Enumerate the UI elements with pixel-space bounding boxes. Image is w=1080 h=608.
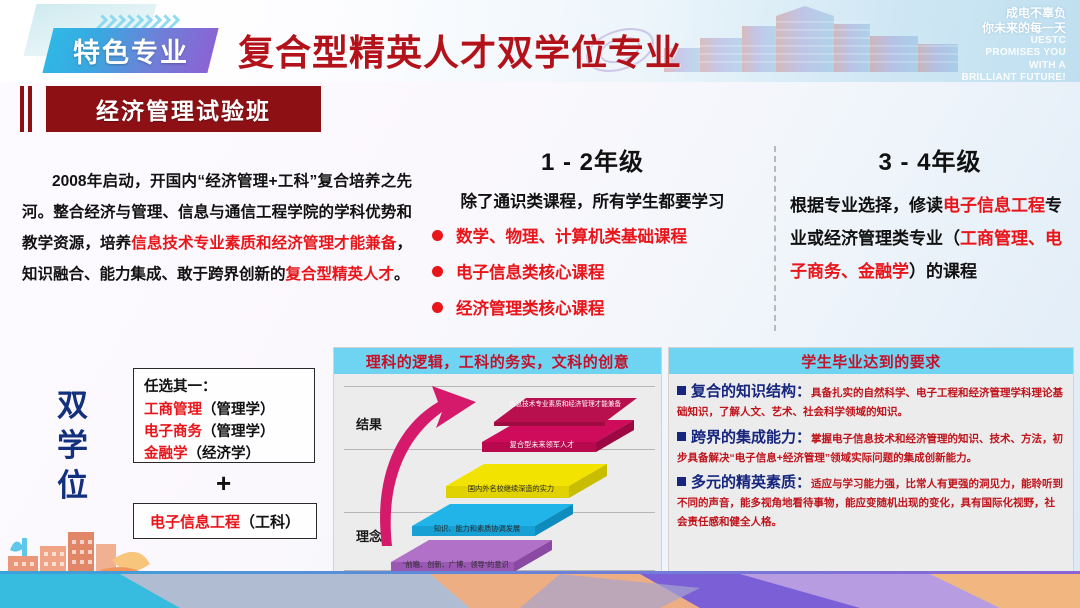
plus-symbol: +	[216, 468, 231, 499]
grade-column-3-4: 3 - 4年级 根据专业选择，修读电子信息工程专业或经济管理类专业（工商管理、电…	[790, 142, 1070, 296]
list-item: 电子信息类核心课程	[420, 259, 765, 283]
list-item: 复合的知识结构：具备扎实的自然科学、电子工程和经济管理学科理论基础知识，了解人文…	[677, 382, 1065, 421]
option-degree: （管理学）	[202, 402, 275, 418]
dual-degree-box-heading: 任选其一：	[144, 375, 304, 396]
grade-column-1-2: 1 - 2年级 除了通识类课程，所有学生都要学习 数学、物理、计算机类基础课程 …	[420, 142, 765, 331]
bullet-label: 经济管理类核心课程	[456, 295, 605, 319]
requirement-heading-text: 复合的知识结构：	[691, 383, 811, 400]
option-major: 电子商务	[144, 424, 202, 440]
step-label-5: 信息技术专业素质和经济管理才能兼备	[502, 400, 628, 409]
top-banner: 特色专业 复合型精英人才双学位专业 成电不辜负 你未来的每一天 UESTC PR…	[0, 0, 1080, 82]
intro-text-red-a: 信息技术专业素质和经济管理才能兼备	[131, 235, 396, 252]
list-item: 电子商务（管理学）	[144, 421, 304, 443]
column-divider	[774, 146, 776, 331]
requirement-heading: 多元的精英素质：	[677, 474, 811, 491]
grade-3-4-lead: 根据专业选择，修读电子信息工程专业或经济管理类专业（工商管理、电子商务、金融学）…	[790, 189, 1070, 288]
section-title-bar: 经济管理试验班	[46, 86, 321, 132]
feature-badge-label: 特色专业	[73, 31, 189, 70]
grade-3-4-text-3: ）的课程	[909, 262, 977, 281]
square-bullet-icon	[677, 432, 686, 441]
bullet-dot-icon	[432, 230, 443, 241]
grade-3-4-red-1: 电子信息工程	[943, 196, 1045, 215]
page-title: 复合型精英人才双学位专业	[238, 24, 682, 76]
tagline-en-line1: UESTC	[906, 35, 1066, 47]
list-item: 工商管理（管理学）	[144, 399, 304, 421]
requirements-panel-header: 学生毕业达到的要求	[669, 348, 1073, 374]
tagline-en-line3: WITH A	[906, 60, 1066, 72]
bottom-decor-strip	[0, 574, 1080, 608]
section-accent-bars	[20, 86, 32, 132]
step-label-1: “前瞻、创新、广博、领导”的意识	[396, 560, 516, 570]
feature-badge: 特色专业	[42, 28, 218, 73]
tagline-cn-line2: 你未来的每一天	[906, 21, 1066, 36]
slide-root: 特色专业 复合型精英人才双学位专业 成电不辜负 你未来的每一天 UESTC PR…	[0, 0, 1080, 608]
requirements-list: 复合的知识结构：具备扎实的自然科学、电子工程和经济管理学科理论基础知识，了解人文…	[669, 374, 1073, 572]
list-item: 金融学（经济学）	[144, 443, 304, 465]
intro-text-c: 。	[394, 266, 410, 283]
list-item: 跨界的集成能力：掌握电子信息技术和经济管理的知识、技术、方法，初步具备解决“电子…	[677, 428, 1065, 467]
intro-text-red-b: 复合型精英人才	[286, 266, 395, 283]
bottom-decor-shapes	[0, 574, 1080, 608]
requirements-panel-title: 学生毕业达到的要求	[801, 351, 941, 372]
bullet-label: 数学、物理、计算机类基础课程	[456, 223, 687, 247]
option-degree: （管理学）	[202, 424, 275, 440]
list-item: 数学、物理、计算机类基础课程	[420, 223, 765, 247]
stairs-diagram: 结果 理念	[334, 374, 661, 580]
grade-1-2-lead: 除了通识类课程，所有学生都要学习	[420, 189, 765, 215]
bullet-label: 电子信息类核心课程	[456, 259, 605, 283]
requirement-heading-text: 跨界的集成能力：	[691, 429, 811, 446]
stairs-panel-title: 理科的逻辑，工科的务实，文科的创意	[366, 351, 630, 372]
dual-degree-label: 双学位	[44, 386, 102, 506]
option-major: 金融学	[144, 446, 188, 462]
tagline-cn-line1: 成电不辜负	[906, 6, 1066, 21]
bullet-dot-icon	[432, 302, 443, 313]
uestc-tagline: 成电不辜负 你未来的每一天 UESTC PROMISES YOU WITH A …	[906, 6, 1066, 82]
intro-paragraph: 2008年启动，开国内“经济管理+工科”复合培养之先河。整合经济与管理、信息与通…	[22, 166, 412, 290]
requirement-heading: 跨界的集成能力：	[677, 429, 811, 446]
dual-degree-options-box: 任选其一： 工商管理（管理学） 电子商务（管理学） 金融学（经济学）	[133, 368, 315, 463]
step-label-3: 国内外名校继续深造的实力	[451, 484, 571, 494]
requirement-heading-text: 多元的精英素质：	[691, 474, 811, 491]
bullet-dot-icon	[432, 266, 443, 277]
grade-1-2-bullet-list: 数学、物理、计算机类基础课程 电子信息类核心课程 经济管理类核心课程	[420, 223, 765, 319]
square-bullet-icon	[677, 477, 686, 486]
grade-1-2-heading: 1 - 2年级	[420, 142, 765, 177]
requirement-heading: 复合的知识结构：	[677, 383, 811, 400]
section-title-label: 经济管理试验班	[96, 92, 271, 126]
option-major: 工商管理	[144, 402, 202, 418]
tagline-en-line2: PROMISES YOU	[906, 47, 1066, 59]
stairs-panel: 理科的逻辑，工科的务实，文科的创意 结果 理念	[333, 347, 662, 581]
step-label-4: 复合型未来领军人才	[486, 440, 598, 450]
list-item: 多元的精英素质：适应与学习能力强，比常人有更强的洞见力，能聆听到不同的声音，能多…	[677, 473, 1065, 530]
list-item: 经济管理类核心课程	[420, 295, 765, 319]
step-label-2: 知识、能力和素质协调发展	[417, 524, 537, 534]
grade-3-4-text-1: 根据专业选择，修读	[790, 196, 943, 215]
stairs-panel-header: 理科的逻辑，工科的务实，文科的创意	[334, 348, 661, 374]
requirements-panel: 学生毕业达到的要求 复合的知识结构：具备扎实的自然科学、电子工程和经济管理学科理…	[668, 347, 1074, 581]
option-degree: （经济学）	[188, 446, 261, 462]
grade-3-4-heading: 3 - 4年级	[790, 142, 1070, 177]
square-bullet-icon	[677, 386, 686, 395]
tagline-en-line4: BRILLIANT FUTURE!	[906, 72, 1066, 82]
base-degree: （工科）	[240, 514, 300, 531]
